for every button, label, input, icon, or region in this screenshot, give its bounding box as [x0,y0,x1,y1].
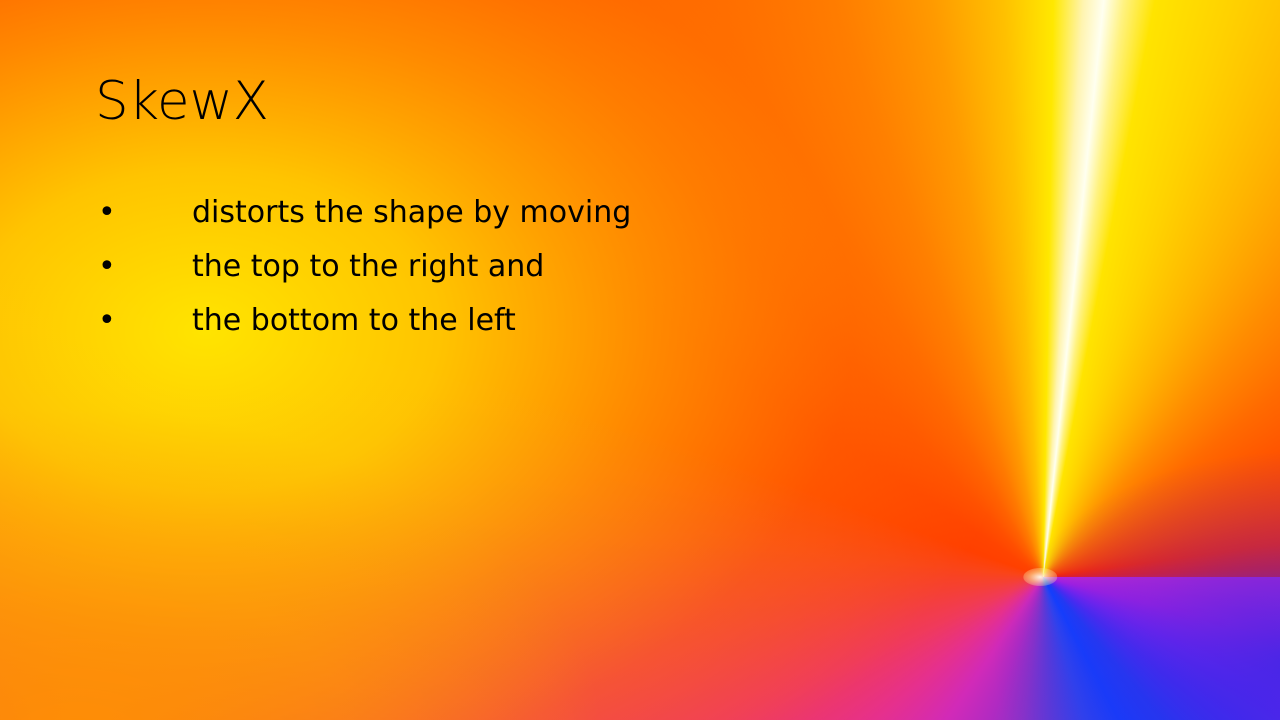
slide-content: SkewX • distorts the shape by moving • t… [0,0,1280,720]
bullet-text-2: the top to the right and [192,247,544,287]
bullet-item-1: • distorts the shape by moving [95,193,895,247]
bullet-item-3: • the bottom to the left [95,301,895,355]
bullet-text-1: distorts the shape by moving [192,193,631,233]
bullet-point-icon: • [95,193,192,233]
presentation-slide: SkewX • distorts the shape by moving • t… [0,0,1280,720]
slide-title: SkewX [95,74,269,130]
bullet-item-2: • the top to the right and [95,247,895,301]
bullet-point-icon: • [95,301,192,341]
bullet-point-icon: • [95,247,192,287]
bullet-list: • distorts the shape by moving • the top… [95,193,895,355]
bullet-text-3: the bottom to the left [192,301,516,341]
